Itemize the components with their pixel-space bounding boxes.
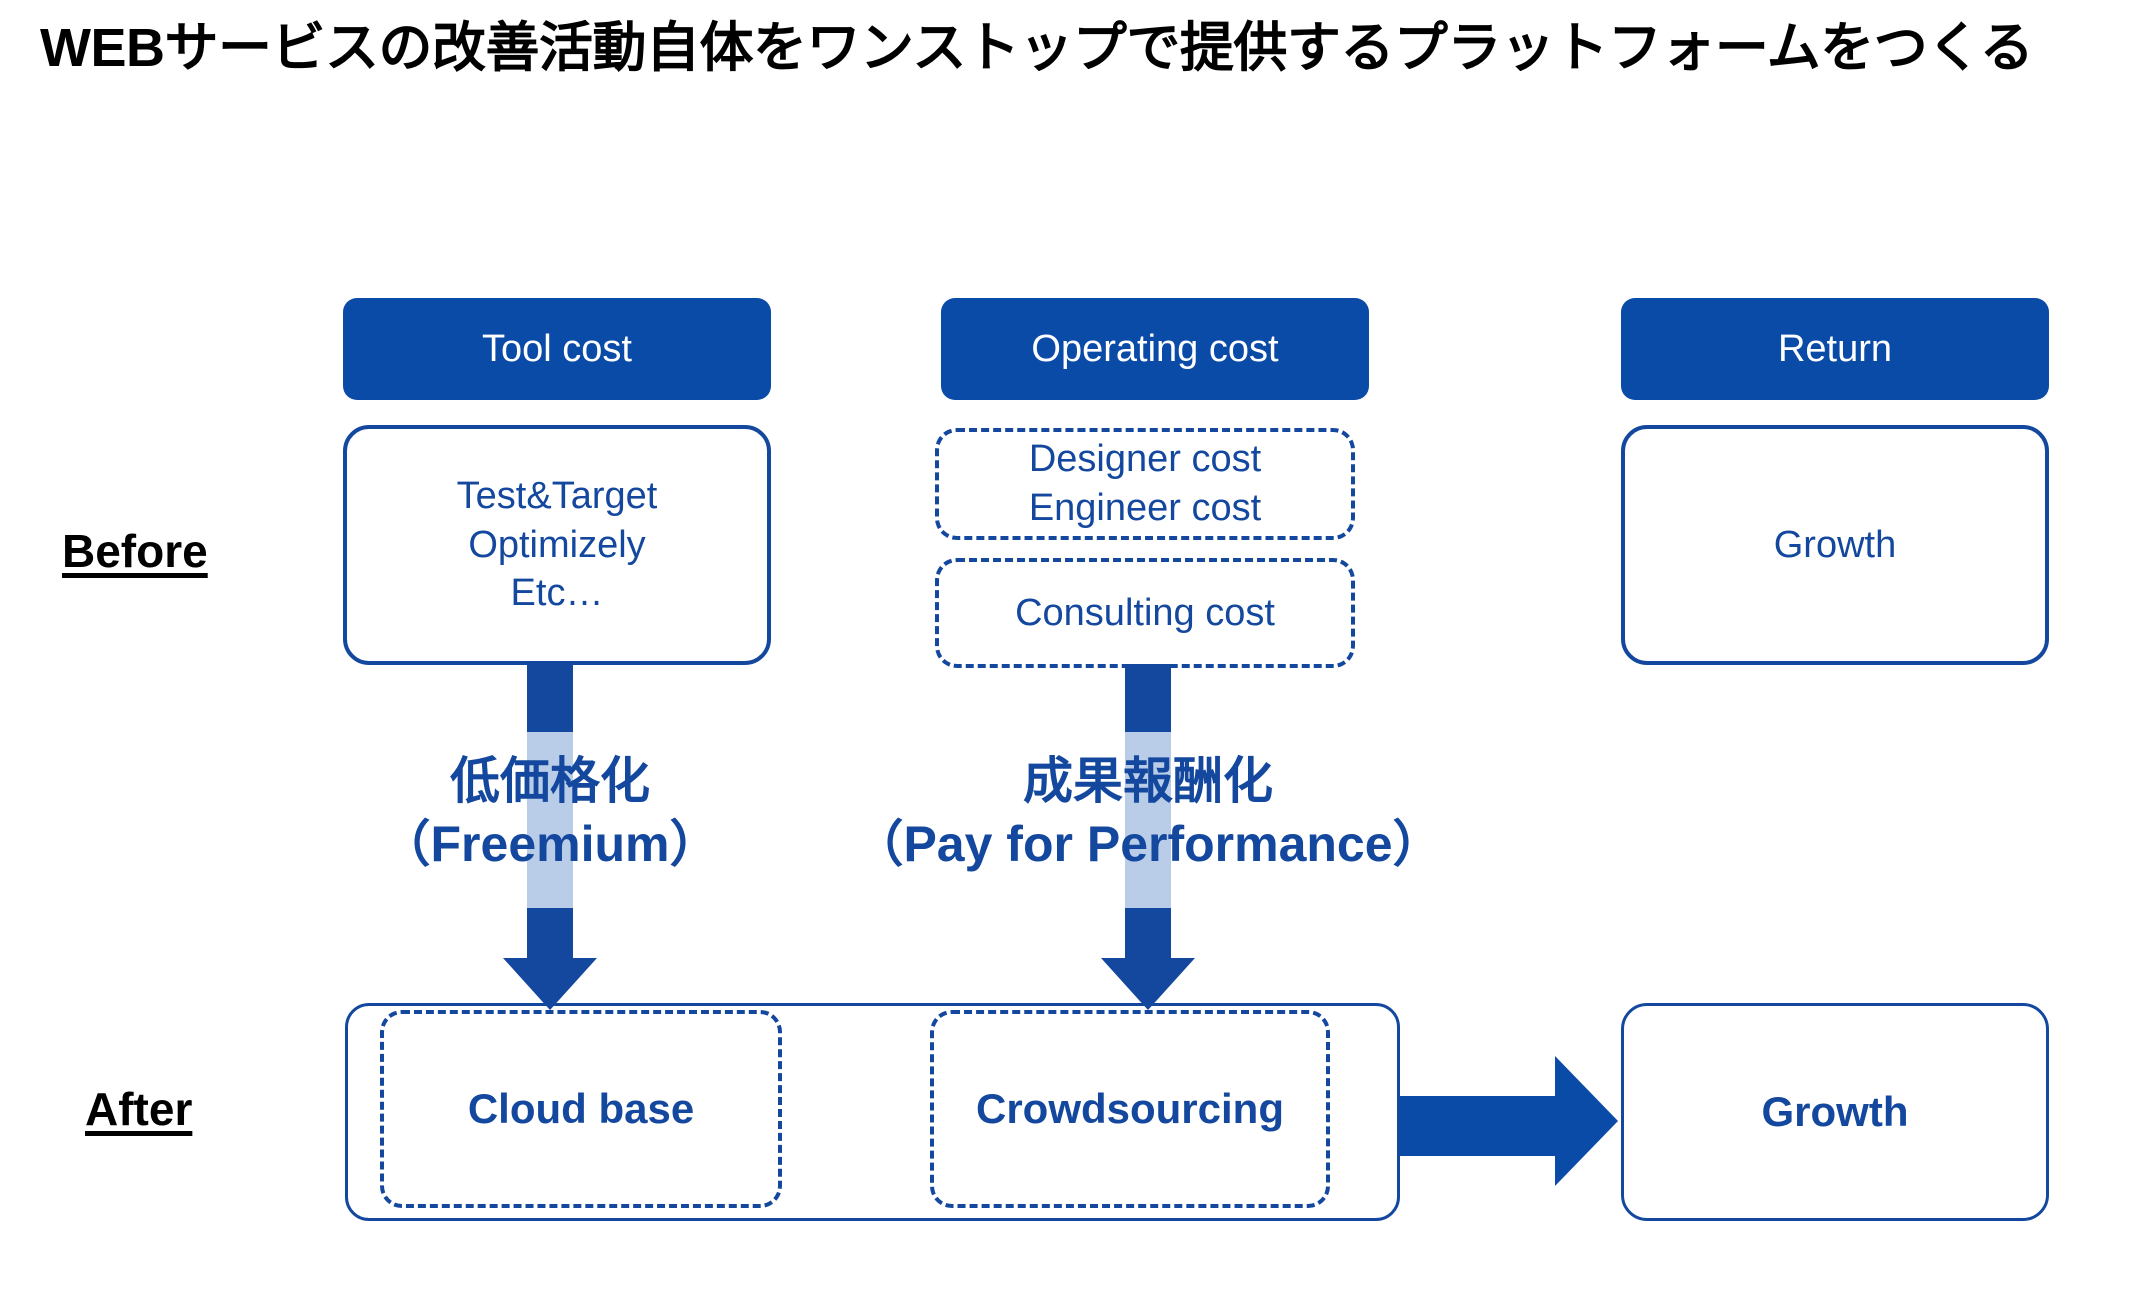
arrow-head (1555, 1056, 1618, 1186)
slide-canvas: WEBサービスの改善活動自体をワンストップで提供するプラットフォームをつくる B… (0, 0, 2148, 1300)
column-header-tool-cost: Tool cost (343, 298, 771, 400)
page-title: WEBサービスの改善活動自体をワンストップで提供するプラットフォームをつくる (40, 16, 2108, 81)
right-arrow-icon (1400, 1056, 1618, 1186)
arrow-shaft-top (1125, 664, 1171, 732)
row-label-after: After (85, 1082, 192, 1136)
row-label-before: Before (62, 524, 208, 578)
arrow-shaft (1400, 1096, 1556, 1156)
after-crowdsourcing-box: Crowdsourcing (930, 1010, 1330, 1208)
arrow-shaft-bottom (527, 908, 573, 958)
transition-caption-freemium: 低価格化（Freemium） (324, 750, 776, 875)
after-cloud-base-box: Cloud base (380, 1010, 782, 1208)
transition-caption-pay-for-performance: 成果報酬化（Pay for Performance） (768, 750, 1528, 875)
after-growth-box: Growth (1621, 1003, 2049, 1221)
arrow-shaft-bottom (1125, 908, 1171, 958)
column-header-return: Return (1621, 298, 2049, 400)
before-return-growth-box: Growth (1621, 425, 2049, 665)
arrow-shaft-top (527, 664, 573, 732)
before-designer-engineer-cost-box: Designer costEngineer cost (935, 428, 1355, 540)
before-tool-cost-box: Test&TargetOptimizelyEtc… (343, 425, 771, 665)
column-header-operating-cost: Operating cost (941, 298, 1369, 400)
before-consulting-cost-box: Consulting cost (935, 558, 1355, 668)
